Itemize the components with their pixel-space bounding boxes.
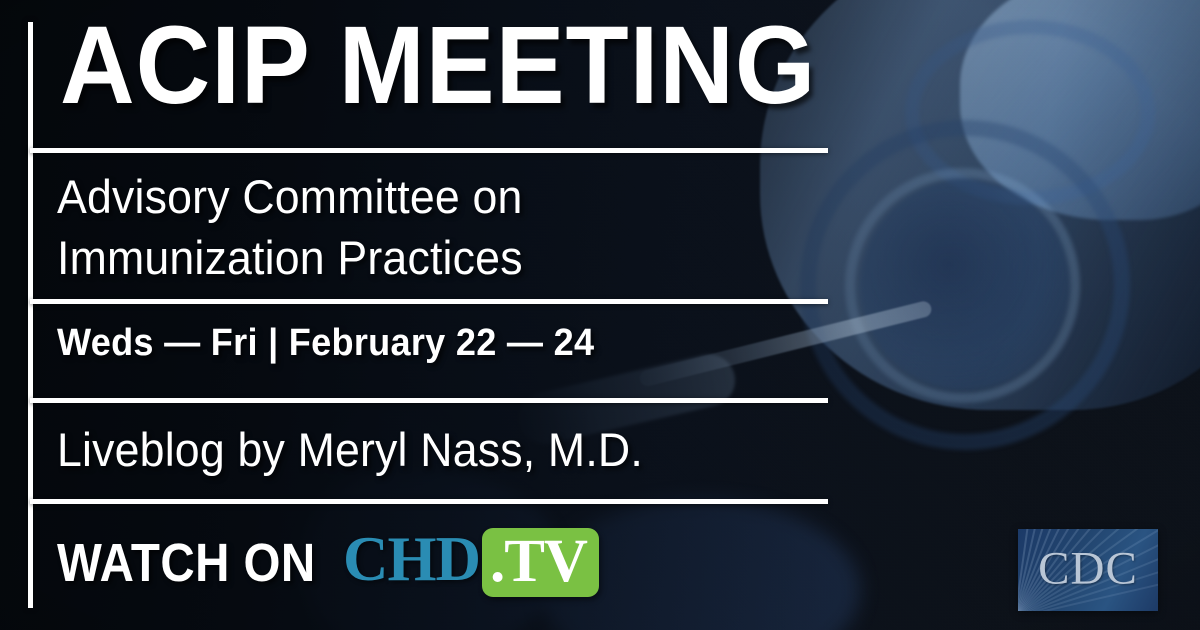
divider-rule-3 bbox=[30, 398, 828, 403]
card-content: ACIP MEETING Advisory Committee on Immun… bbox=[0, 0, 1200, 630]
meeting-date-line: Weds — Fri | February 22 — 24 bbox=[57, 322, 594, 365]
cdc-logo: CDC bbox=[1018, 529, 1158, 611]
chdtv-brand-word: CHD bbox=[343, 528, 482, 597]
divider-rule-2 bbox=[30, 299, 828, 304]
page-title: ACIP MEETING bbox=[60, 11, 816, 121]
chdtv-tld-chip: .TV bbox=[482, 528, 599, 597]
watch-on-row: WATCH ON CHD .TV bbox=[57, 528, 599, 597]
chdtv-logo[interactable]: CHD .TV bbox=[343, 528, 599, 597]
divider-rule-4 bbox=[30, 499, 828, 504]
cdc-logo-text: CDC bbox=[1018, 546, 1158, 593]
subtitle: Advisory Committee on Immunization Pract… bbox=[57, 166, 523, 288]
acip-meeting-promo-card: ACIP MEETING Advisory Committee on Immun… bbox=[0, 0, 1200, 630]
divider-rule-1 bbox=[30, 148, 828, 153]
left-vertical-rule bbox=[28, 22, 33, 608]
watch-on-label: WATCH ON bbox=[57, 536, 316, 590]
chdtv-tld-text: .TV bbox=[490, 531, 587, 592]
liveblog-byline: Liveblog by Meryl Nass, M.D. bbox=[57, 422, 643, 477]
